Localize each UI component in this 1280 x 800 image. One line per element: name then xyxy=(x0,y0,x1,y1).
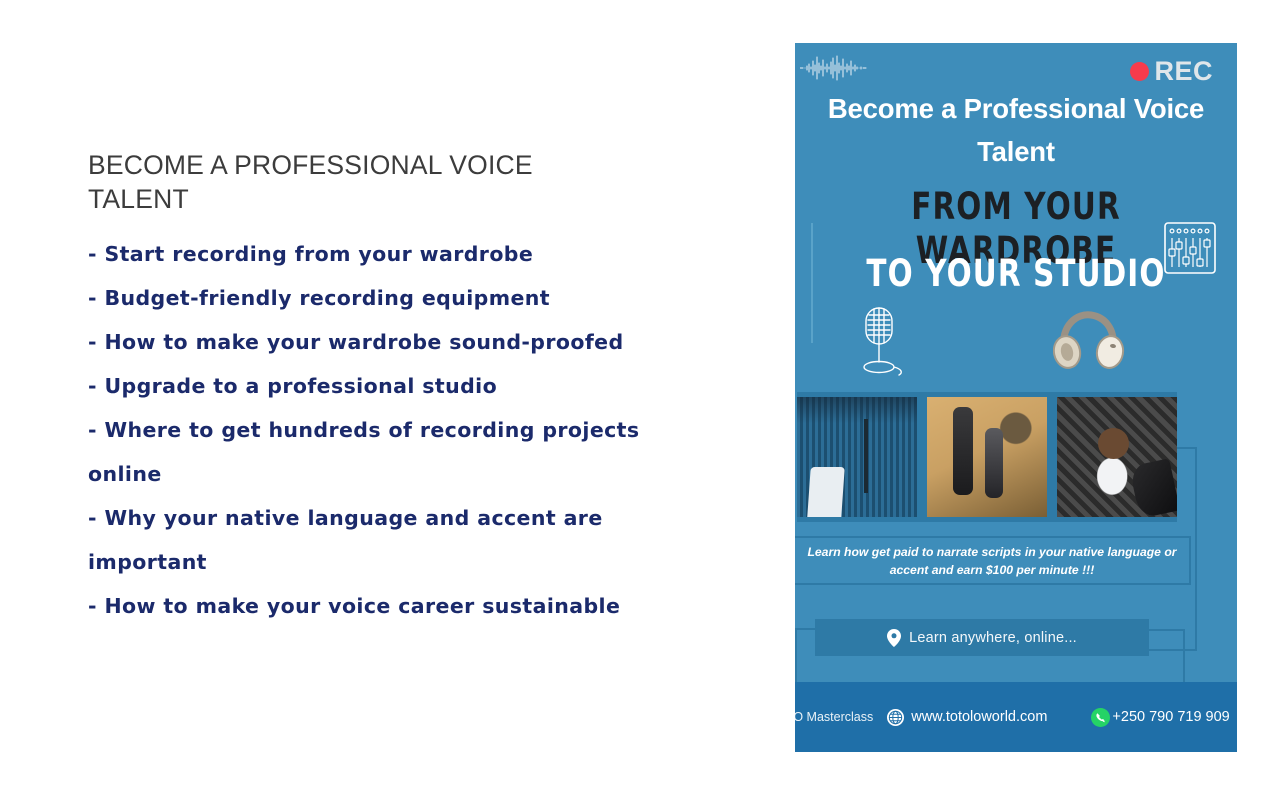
slide-content-panel: BECOME A PROFESSIONAL VOICE TALENT - Sta… xyxy=(0,0,740,800)
footer-website[interactable]: www.totoloworld.com xyxy=(887,709,1047,726)
globe-icon xyxy=(887,709,904,726)
headphones-icon xyxy=(1053,305,1125,377)
whatsapp-icon xyxy=(1091,708,1110,727)
location-pin-icon xyxy=(887,629,901,647)
wardrobe-booth-photo xyxy=(797,397,917,517)
footer-phone[interactable]: +250 790 719 909 xyxy=(1091,708,1229,727)
caption-text: Learn how get paid to narrate scripts in… xyxy=(795,543,1189,579)
caption-box: Learn how get paid to narrate scripts in… xyxy=(795,536,1191,585)
list-item: - Where to get hundreds of recording pro… xyxy=(88,408,688,496)
rec-label: REC xyxy=(1154,58,1213,85)
list-item: - How to make your voice career sustaina… xyxy=(88,584,688,628)
vintage-microphone-icon xyxy=(857,305,913,383)
microphone-equipment-photo xyxy=(927,397,1047,517)
poster-headline: Become a Professional Voice Talent xyxy=(795,87,1237,173)
photo-strip xyxy=(797,392,1177,522)
list-item: - Upgrade to a professional studio xyxy=(88,364,688,408)
footer-phone-text: +250 790 719 909 xyxy=(1112,709,1229,725)
learn-anywhere-bar[interactable]: Learn anywhere, online... xyxy=(815,619,1149,656)
list-item: - Budget-friendly recording equipment xyxy=(88,276,688,320)
audio-mixer-icon xyxy=(1163,221,1217,275)
page-title: BECOME A PROFESSIONAL VOICE TALENT xyxy=(88,148,608,216)
footer-website-text: www.totoloworld.com xyxy=(911,709,1047,725)
audio-waveform-icon xyxy=(800,55,872,81)
cta-label: Learn anywhere, online... xyxy=(909,630,1077,646)
record-dot-icon xyxy=(1130,62,1149,81)
list-item: - Start recording from your wardrobe xyxy=(88,232,688,276)
promo-poster: REC Become a Professional Voice Talent F… xyxy=(795,43,1237,752)
rec-indicator: REC xyxy=(1130,58,1213,85)
voice-talent-photo xyxy=(1057,397,1177,517)
bullet-list: - Start recording from your wardrobe - B… xyxy=(88,232,688,628)
list-item: - How to make your wardrobe sound-proofe… xyxy=(88,320,688,364)
list-item: - Why your native language and accent ar… xyxy=(88,496,688,584)
footer-brand: VO Masterclass xyxy=(795,710,873,724)
poster-footer: VO Masterclass www.totoloworld.com xyxy=(795,682,1237,752)
